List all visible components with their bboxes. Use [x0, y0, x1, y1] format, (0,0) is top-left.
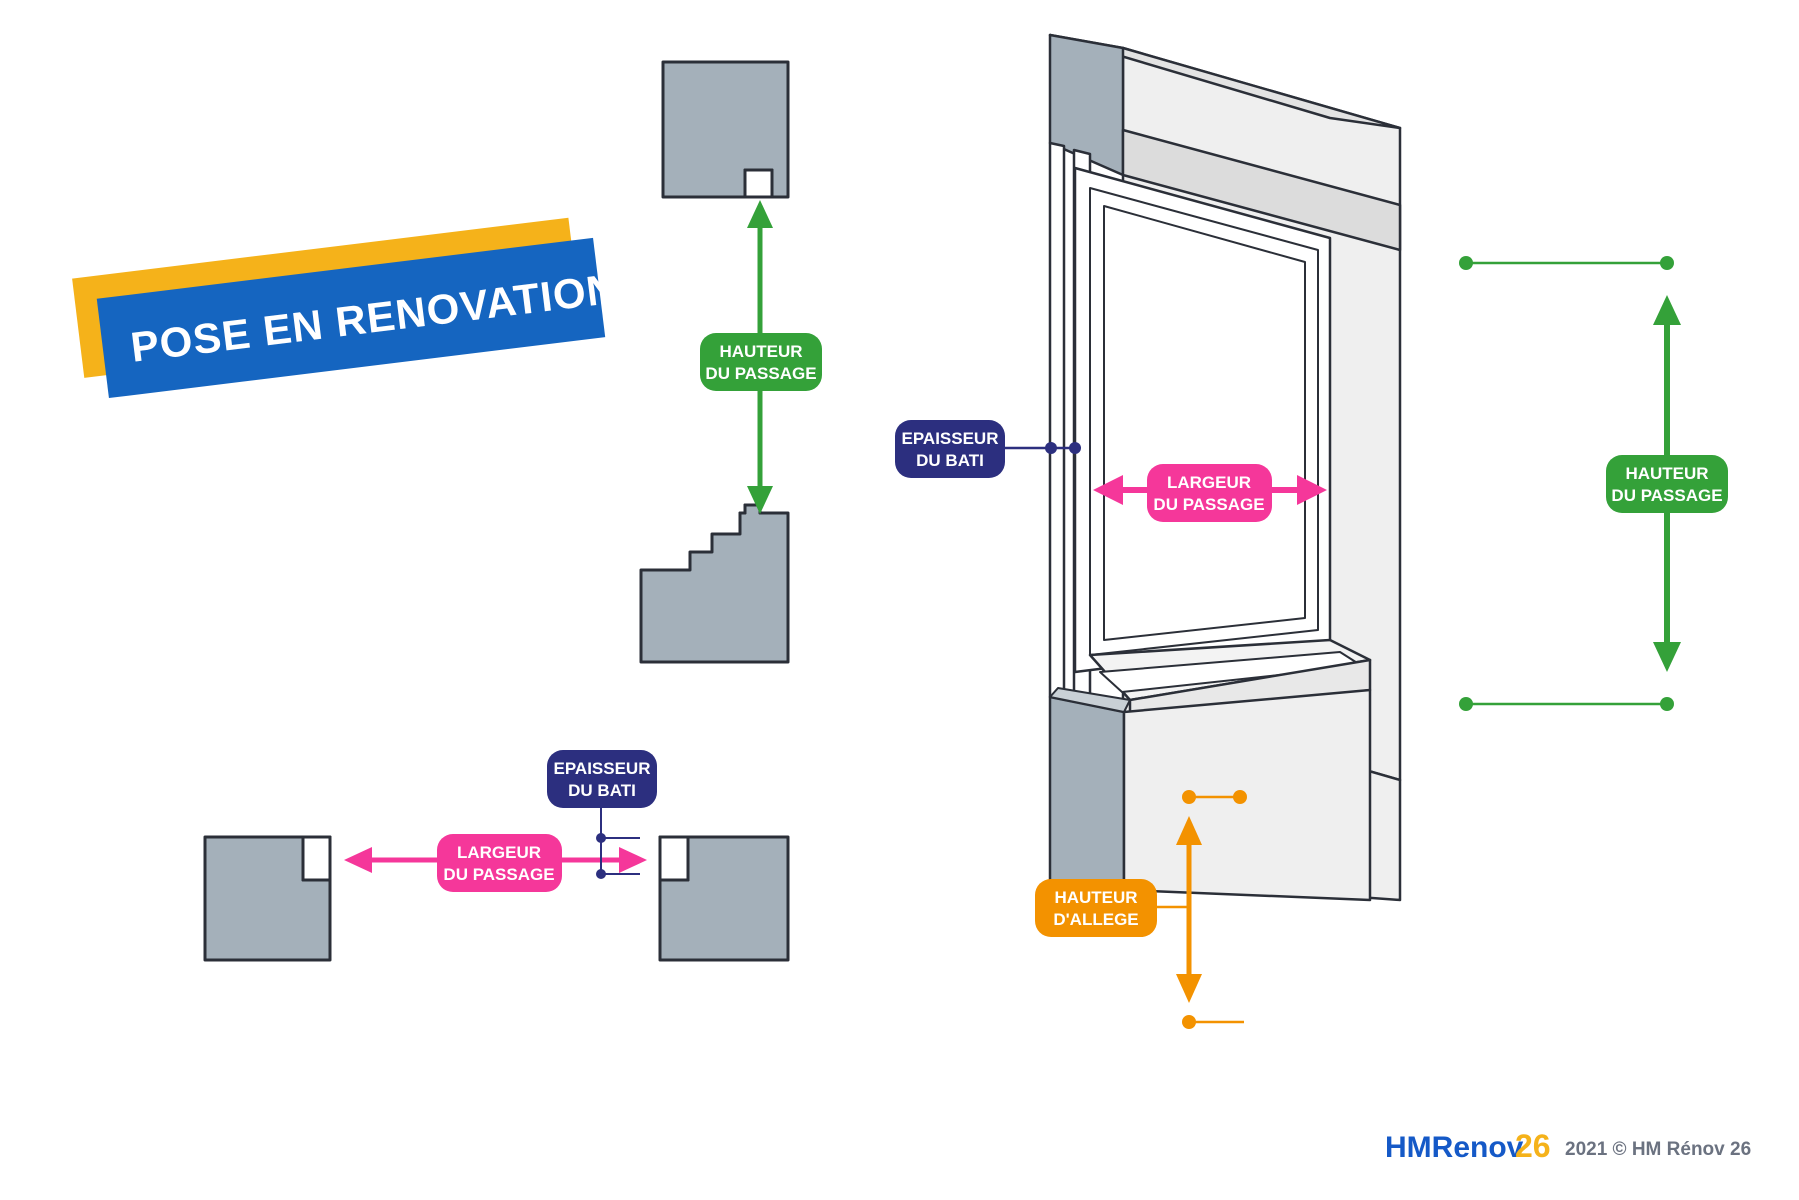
anchor-dot-top-left [1182, 790, 1196, 804]
plan-left-jamb-profile [205, 837, 330, 960]
badge-hauteur-passage-persp: HAUTEUR DU PASSAGE [1606, 455, 1728, 513]
arrowhead-up [747, 200, 773, 228]
badge-epaisseur-bati-plan: EPAISSEUR DU BATI [547, 750, 657, 808]
brand-logo-text: HMRenov [1385, 1131, 1524, 1164]
arrowhead-down [1176, 974, 1202, 1003]
badge-line1: EPAISSEUR [902, 429, 999, 448]
badge-line1: LARGEUR [1167, 473, 1251, 492]
badge-line1: HAUTEUR [1625, 464, 1708, 483]
arrowhead-down [1653, 642, 1681, 672]
arrowhead-up [1653, 295, 1681, 325]
section-sill-profile [641, 505, 788, 662]
dimension-hauteur-passage-section: HAUTEUR DU PASSAGE [700, 200, 822, 514]
anchor-dot-bottom [596, 869, 606, 879]
badge-hauteur-passage-section: HAUTEUR DU PASSAGE [700, 333, 822, 391]
badge-largeur-passage-plan: LARGEUR DU PASSAGE [437, 834, 562, 892]
window-glass-opening [1104, 206, 1305, 640]
badge-largeur-passage-persp: LARGEUR DU PASSAGE [1147, 464, 1272, 522]
copyright-text: 2021 © HM Rénov 26 [1565, 1139, 1751, 1160]
badge-line1: HAUTEUR [719, 342, 802, 361]
left-outer-jamb [1050, 143, 1064, 700]
badge-line2: DU BATI [568, 781, 636, 800]
arrowhead-right [619, 847, 647, 873]
anchor-dot-outer [1069, 442, 1081, 454]
anchor-dot-top-right [1660, 256, 1674, 270]
anchor-dot-bottom-left [1182, 1015, 1196, 1029]
dimension-hauteur-passage-persp: HAUTEUR DU PASSAGE [1459, 256, 1728, 711]
title-banner: POSE EN RENOVATION [72, 213, 623, 401]
badge-epaisseur-bati-persp: EPAISSEUR DU BATI [895, 420, 1005, 478]
badge-line2: DU PASSAGE [443, 865, 554, 884]
badge-line2: DU PASSAGE [1153, 495, 1264, 514]
anchor-dot-bottom-right [1660, 697, 1674, 711]
section-lintel-profile [663, 62, 788, 197]
footer: HMRenov 26 2021 © HM Rénov 26 [1385, 1128, 1751, 1164]
renovation-diagram: POSE EN RENOVATION HAUTEUR DU PASSAGE [0, 0, 1799, 1200]
badge-line2: DU PASSAGE [705, 364, 816, 383]
brand-logo-suffix: 26 [1515, 1128, 1551, 1164]
allege-reveal-gray [1050, 697, 1124, 890]
diagram-canvas: POSE EN RENOVATION HAUTEUR DU PASSAGE [0, 0, 1799, 1200]
left-jamb-rebate-notch [303, 837, 330, 880]
anchor-dot-top-left [1459, 256, 1473, 270]
right-jamb-rebate-notch [660, 837, 688, 880]
anchor-dot-top [596, 833, 606, 843]
anchor-dot-inner [1045, 442, 1057, 454]
sill-block [641, 505, 788, 662]
badge-hauteur-allege: HAUTEUR D'ALLEGE [1035, 879, 1157, 937]
badge-line1: LARGEUR [457, 843, 541, 862]
lintel-rebate-notch [745, 170, 772, 197]
anchor-dot-top-right [1233, 790, 1247, 804]
badge-line2: DU PASSAGE [1611, 486, 1722, 505]
anchor-dot-bottom-left [1459, 697, 1473, 711]
badge-line2: D'ALLEGE [1053, 910, 1138, 929]
badge-line1: HAUTEUR [1054, 888, 1137, 907]
badge-line1: EPAISSEUR [554, 759, 651, 778]
badge-line2: DU BATI [916, 451, 984, 470]
arrowhead-left [344, 847, 372, 873]
plan-right-jamb-profile [660, 837, 788, 960]
allege-outer-face [1124, 690, 1370, 900]
